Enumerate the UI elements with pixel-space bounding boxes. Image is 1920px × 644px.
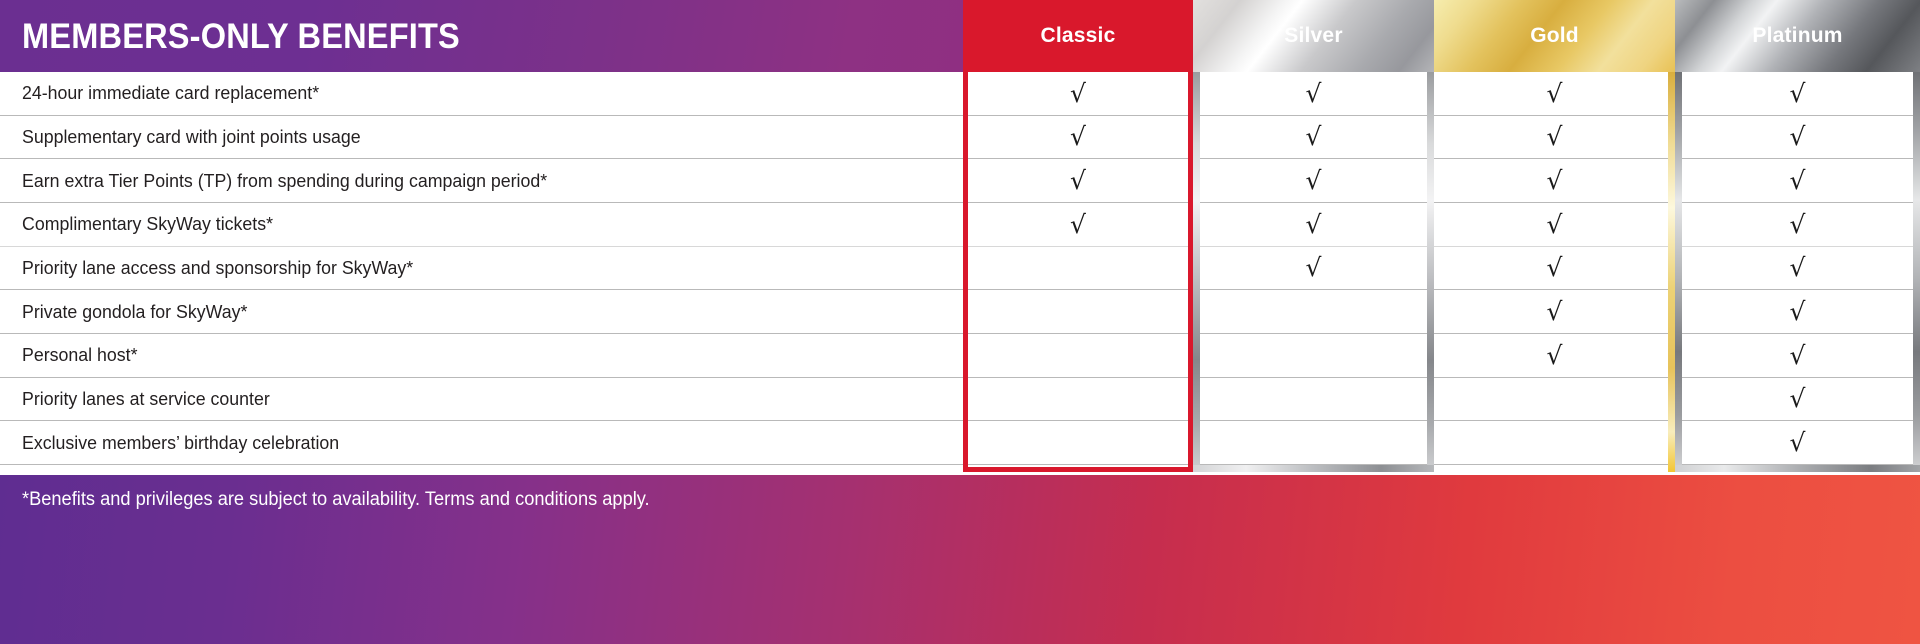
benefit-cell-gold: √	[1434, 116, 1675, 159]
tier-label-gold: Gold	[1530, 24, 1579, 48]
check-icon: √	[1070, 212, 1086, 237]
benefit-cell-platinum: √	[1675, 159, 1920, 202]
check-icon: √	[1547, 212, 1563, 237]
check-icon: √	[1547, 168, 1563, 193]
benefit-label: Complimentary SkyWay tickets*	[22, 213, 273, 235]
benefit-cell-classic: √	[963, 72, 1193, 115]
benefit-cell-platinum: √	[1675, 378, 1920, 421]
benefit-cell-classic: √	[963, 203, 1193, 246]
benefit-cell-silver: √	[1193, 72, 1434, 115]
benefit-cell-gold: √	[1434, 203, 1675, 246]
check-icon: √	[1547, 124, 1563, 149]
tier-label-platinum: Platinum	[1752, 24, 1842, 48]
benefit-cell-gold: √	[1434, 290, 1675, 333]
check-icon: √	[1790, 343, 1806, 368]
benefit-cell-classic	[963, 290, 1193, 333]
page-title-cell: MEMBERS-ONLY BENEFITS	[0, 0, 963, 72]
table-row: 24-hour immediate card replacement*√√√√	[0, 72, 1920, 116]
check-icon: √	[1790, 430, 1806, 455]
benefit-label-cell: Personal host*	[0, 334, 963, 377]
check-icon: √	[1306, 255, 1322, 280]
benefit-cell-silver	[1193, 378, 1434, 421]
check-icon: √	[1306, 124, 1322, 149]
benefit-cell-classic	[963, 247, 1193, 290]
table-row: Supplementary card with joint points usa…	[0, 116, 1920, 160]
benefit-label: 24-hour immediate card replacement*	[22, 82, 319, 104]
check-icon: √	[1790, 168, 1806, 193]
table-row: Priority lane access and sponsorship for…	[0, 247, 1920, 291]
benefit-cell-silver: √	[1193, 159, 1434, 202]
benefit-label-cell: Private gondola for SkyWay*	[0, 290, 963, 333]
benefit-cell-silver: √	[1193, 247, 1434, 290]
benefit-cell-gold	[1434, 378, 1675, 421]
benefit-cell-silver	[1193, 290, 1434, 333]
table-header-row: MEMBERS-ONLY BENEFITS Classic Silver Gol…	[0, 0, 1920, 72]
benefit-cell-platinum: √	[1675, 203, 1920, 246]
benefit-cell-classic	[963, 334, 1193, 377]
benefit-cell-silver	[1193, 334, 1434, 377]
benefit-cell-platinum: √	[1675, 116, 1920, 159]
benefit-cell-platinum: √	[1675, 334, 1920, 377]
tier-header-silver[interactable]: Silver	[1193, 0, 1434, 72]
benefit-cell-gold	[1434, 421, 1675, 464]
benefit-cell-gold: √	[1434, 334, 1675, 377]
benefit-cell-silver: √	[1193, 203, 1434, 246]
table-row: Priority lanes at service counter√	[0, 378, 1920, 422]
gold-column-bottom-edge	[1434, 465, 1675, 472]
benefit-cell-classic	[963, 378, 1193, 421]
silver-column-bottom-edge	[1193, 465, 1434, 472]
benefit-label-cell: 24-hour immediate card replacement*	[0, 72, 963, 115]
benefits-comparison-table: MEMBERS-ONLY BENEFITS Classic Silver Gol…	[0, 0, 1920, 644]
check-icon: √	[1070, 81, 1086, 106]
check-icon: √	[1547, 343, 1563, 368]
benefit-label: Priority lane access and sponsorship for…	[22, 257, 413, 279]
check-icon: √	[1790, 81, 1806, 106]
benefit-cell-platinum: √	[1675, 290, 1920, 333]
tier-label-classic: Classic	[1041, 24, 1116, 48]
benefit-cell-classic: √	[963, 116, 1193, 159]
page-title: MEMBERS-ONLY BENEFITS	[22, 19, 460, 54]
benefit-cell-gold: √	[1434, 159, 1675, 202]
check-icon: √	[1306, 212, 1322, 237]
benefit-cell-silver	[1193, 421, 1434, 464]
check-icon: √	[1790, 212, 1806, 237]
benefit-cell-platinum: √	[1675, 421, 1920, 464]
table-row: Earn extra Tier Points (TP) from spendin…	[0, 159, 1920, 203]
table-row: Exclusive members’ birthday celebration√	[0, 421, 1920, 465]
benefit-label: Supplementary card with joint points usa…	[22, 126, 361, 148]
benefit-label-cell: Priority lanes at service counter	[0, 378, 963, 421]
benefit-label: Personal host*	[22, 344, 138, 366]
check-icon: √	[1790, 124, 1806, 149]
benefit-cell-classic	[963, 421, 1193, 464]
footer-disclaimer: *Benefits and privileges are subject to …	[22, 489, 650, 511]
benefit-cell-gold: √	[1434, 72, 1675, 115]
check-icon: √	[1547, 255, 1563, 280]
benefit-cell-gold: √	[1434, 247, 1675, 290]
check-icon: √	[1306, 168, 1322, 193]
table-row: Complimentary SkyWay tickets*√√√√	[0, 203, 1920, 247]
check-icon: √	[1790, 299, 1806, 324]
check-icon: √	[1547, 299, 1563, 324]
benefit-label-cell: Priority lane access and sponsorship for…	[0, 247, 963, 290]
check-icon: √	[1790, 386, 1806, 411]
benefit-label-cell: Earn extra Tier Points (TP) from spendin…	[0, 159, 963, 202]
check-icon: √	[1790, 255, 1806, 280]
tier-header-gold[interactable]: Gold	[1434, 0, 1675, 72]
check-icon: √	[1070, 124, 1086, 149]
benefit-label-cell: Supplementary card with joint points usa…	[0, 116, 963, 159]
check-icon: √	[1306, 81, 1322, 106]
check-icon: √	[1547, 81, 1563, 106]
benefit-label: Earn extra Tier Points (TP) from spendin…	[22, 170, 547, 192]
table-row: Personal host*√√	[0, 334, 1920, 378]
benefit-cell-classic: √	[963, 159, 1193, 202]
benefit-cell-platinum: √	[1675, 72, 1920, 115]
table-row: Private gondola for SkyWay*√√	[0, 290, 1920, 334]
platinum-column-bottom-edge	[1675, 465, 1920, 472]
tier-label-silver: Silver	[1284, 24, 1342, 48]
tier-header-classic[interactable]: Classic	[963, 0, 1193, 72]
benefit-label: Private gondola for SkyWay*	[22, 301, 247, 323]
tier-header-platinum[interactable]: Platinum	[1675, 0, 1920, 72]
benefit-cell-silver: √	[1193, 116, 1434, 159]
benefit-label-cell: Exclusive members’ birthday celebration	[0, 421, 963, 464]
benefit-label: Exclusive members’ birthday celebration	[22, 432, 339, 454]
table-body: 24-hour immediate card replacement*√√√√S…	[0, 72, 1920, 465]
footer-bar: *Benefits and privileges are subject to …	[0, 475, 1920, 644]
benefit-label: Priority lanes at service counter	[22, 388, 270, 410]
benefit-label-cell: Complimentary SkyWay tickets*	[0, 203, 963, 246]
check-icon: √	[1070, 168, 1086, 193]
benefit-cell-platinum: √	[1675, 247, 1920, 290]
